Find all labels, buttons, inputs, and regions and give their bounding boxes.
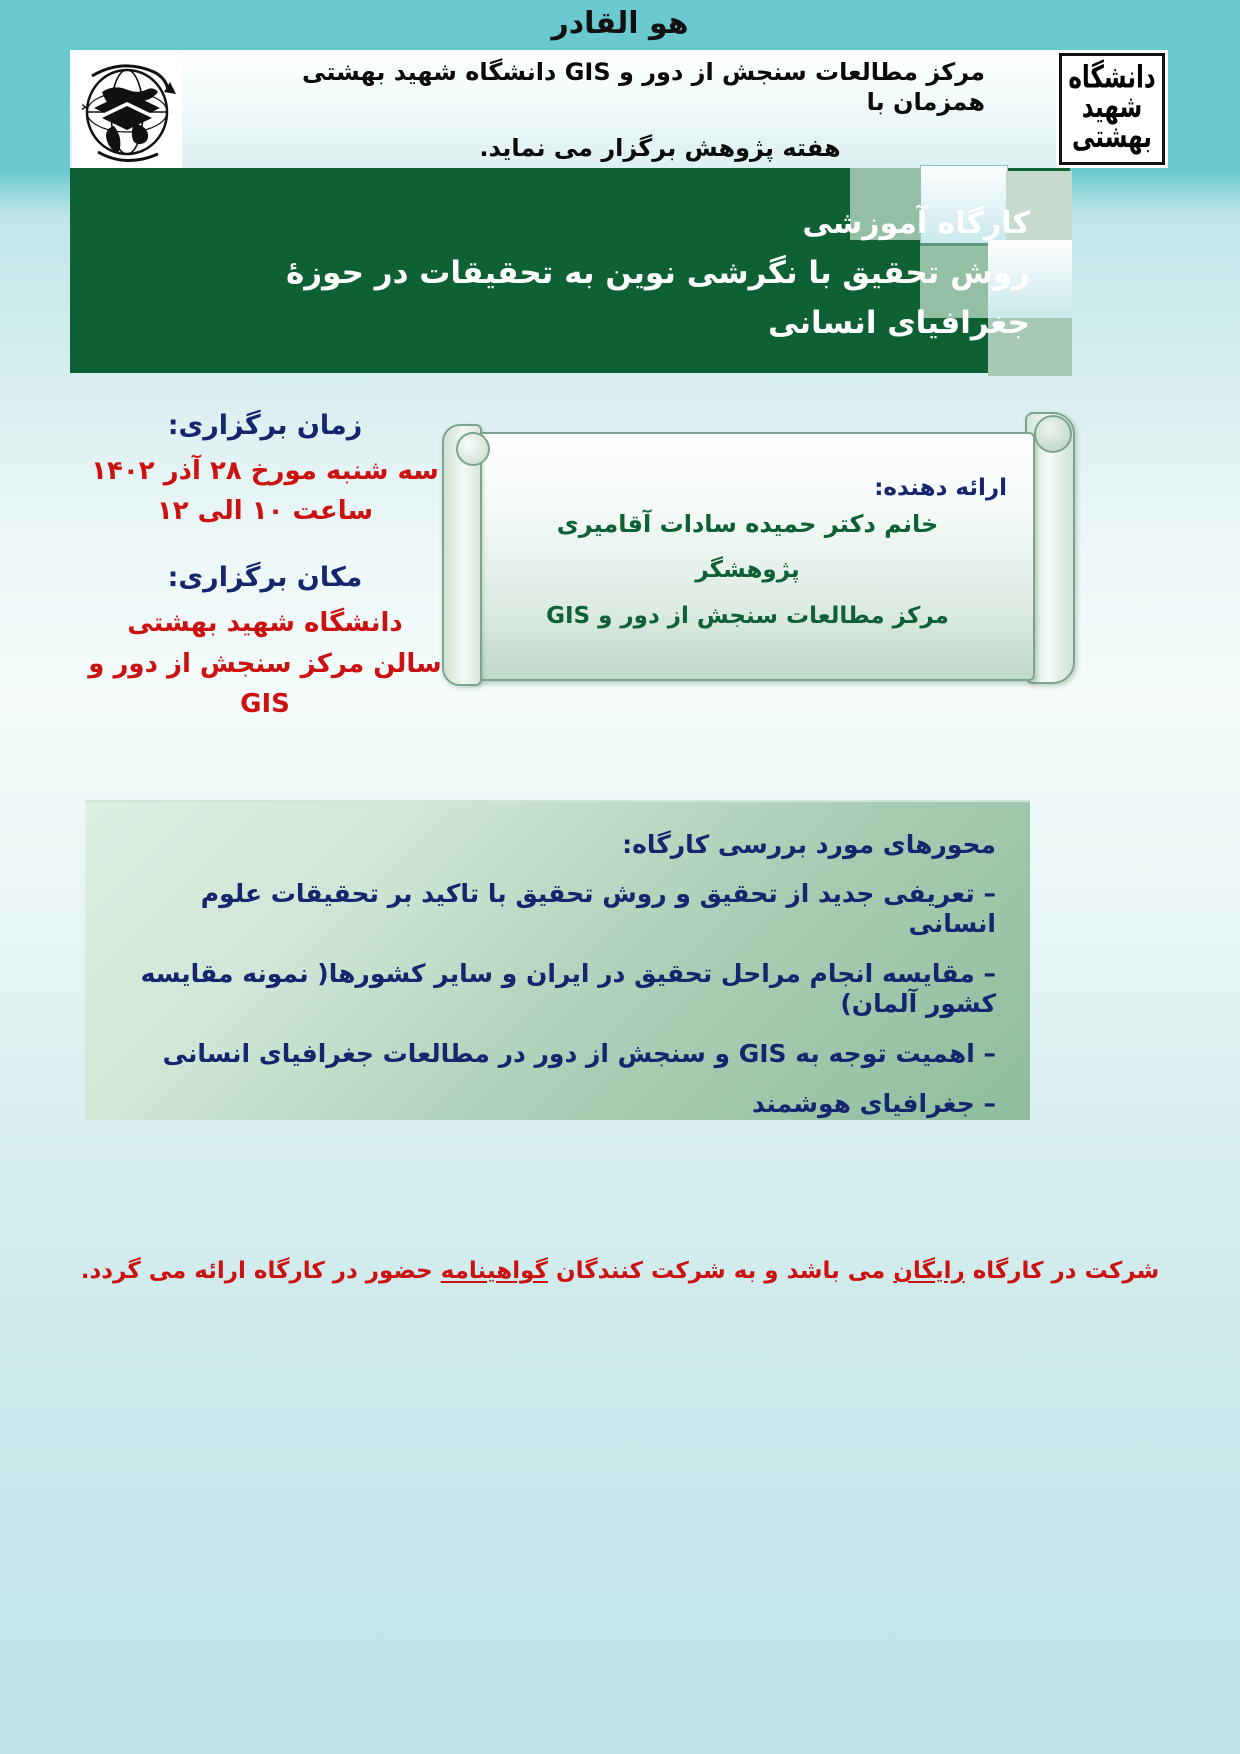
presenter-name: خانم دکتر حمیده سادات آقامیری [470,505,1025,543]
event-hours-value: ساعت ۱۰ الی ۱۲ [70,491,460,531]
workshop-title-text: کارگاه آموزشی روش تحقیق با نگرشی نوین به… [70,168,1070,373]
footer-part-3: حضور در کارگاه ارائه می گردد. [81,1258,441,1284]
topics-content: محورهای مورد بررسی کارگاه: – تعریفی جدید… [85,802,1030,1120]
event-date-value: سه شنبه مورخ ۲۸ آذر ۱۴۰۲ [70,451,460,491]
scroll-knob-left-icon [456,432,490,466]
shahid-beheshti-university-logo: دانشگاه شهید بهشتی [1056,50,1168,168]
iranian-rs-gis-society-logo: IRANIAN RS & GIS SOCIETY [72,52,182,168]
topic-item: – تعریفی جدید از تحقیق و روش تحقیق با تا… [119,879,996,939]
topic-item: – جغرافیای هوشمند [119,1089,996,1119]
presenter-organization: مرکز مطالعات سنجش از دور و GIS [470,598,1025,635]
workshop-title-line-1: روش تحقیق با نگرشی نوین به تحقیقات در حو… [70,255,1030,291]
sbu-logo-frame: دانشگاه شهید بهشتی [1059,53,1165,165]
presenter-info: ارائه دهنده: خانم دکتر حمیده سادات آقامی… [470,470,1025,635]
header-line-2: هفته پژوهش برگزار می نماید. [280,133,985,163]
topic-item: – مقایسه انجام مراحل تحقیق در ایران و سا… [119,959,996,1019]
workshop-kicker: کارگاه آموزشی [70,206,1030,241]
event-place-line-2: سالن مرکز سنجش از دور و GIS [70,644,460,725]
topics-heading: محورهای مورد بررسی کارگاه: [119,830,996,859]
footer-note: شرکت در کارگاه رایگان می باشد و به شرکت … [0,1258,1240,1284]
footer-free-word: رایگان [893,1258,964,1284]
topics-box: محورهای مورد بررسی کارگاه: – تعریفی جدید… [85,800,1030,1120]
footer-certificate-word: گواهینامه [441,1258,548,1284]
spacer [70,531,460,557]
event-place-line-1: دانشگاه شهید بهشتی [70,603,460,643]
invocation-text: هو القادر [0,6,1240,41]
topic-item: – اهمیت توجه به GIS و سنجش از دور در مطا… [119,1039,996,1069]
event-details: زمان برگزاری: سه شنبه مورخ ۲۸ آذر ۱۴۰۲ س… [70,405,460,724]
workshop-title-line-2: جغرافیای انسانی [70,305,1030,341]
footer-part-2: می باشد و به شرکت کنندگان [548,1258,893,1284]
footer-part-1: شرکت در کارگاه [965,1258,1160,1284]
presenter-label: ارائه دهنده: [470,470,1025,507]
scroll-knob-right-icon [1034,415,1072,453]
sbu-logo-calligraphy: دانشگاه شهید بهشتی [1062,65,1162,153]
workshop-title-block: کارگاه آموزشی روش تحقیق با نگرشی نوین به… [70,168,1070,373]
event-place-label: مکان برگزاری: [70,557,460,599]
header-line-1: مرکز مطالعات سنجش از دور و GIS دانشگاه ش… [280,57,985,117]
event-time-label: زمان برگزاری: [70,405,460,447]
presenter-role: پژوهشگر [470,552,1025,589]
header-organizer-text: مرکز مطالعات سنجش از دور و GIS دانشگاه ش… [280,54,985,166]
